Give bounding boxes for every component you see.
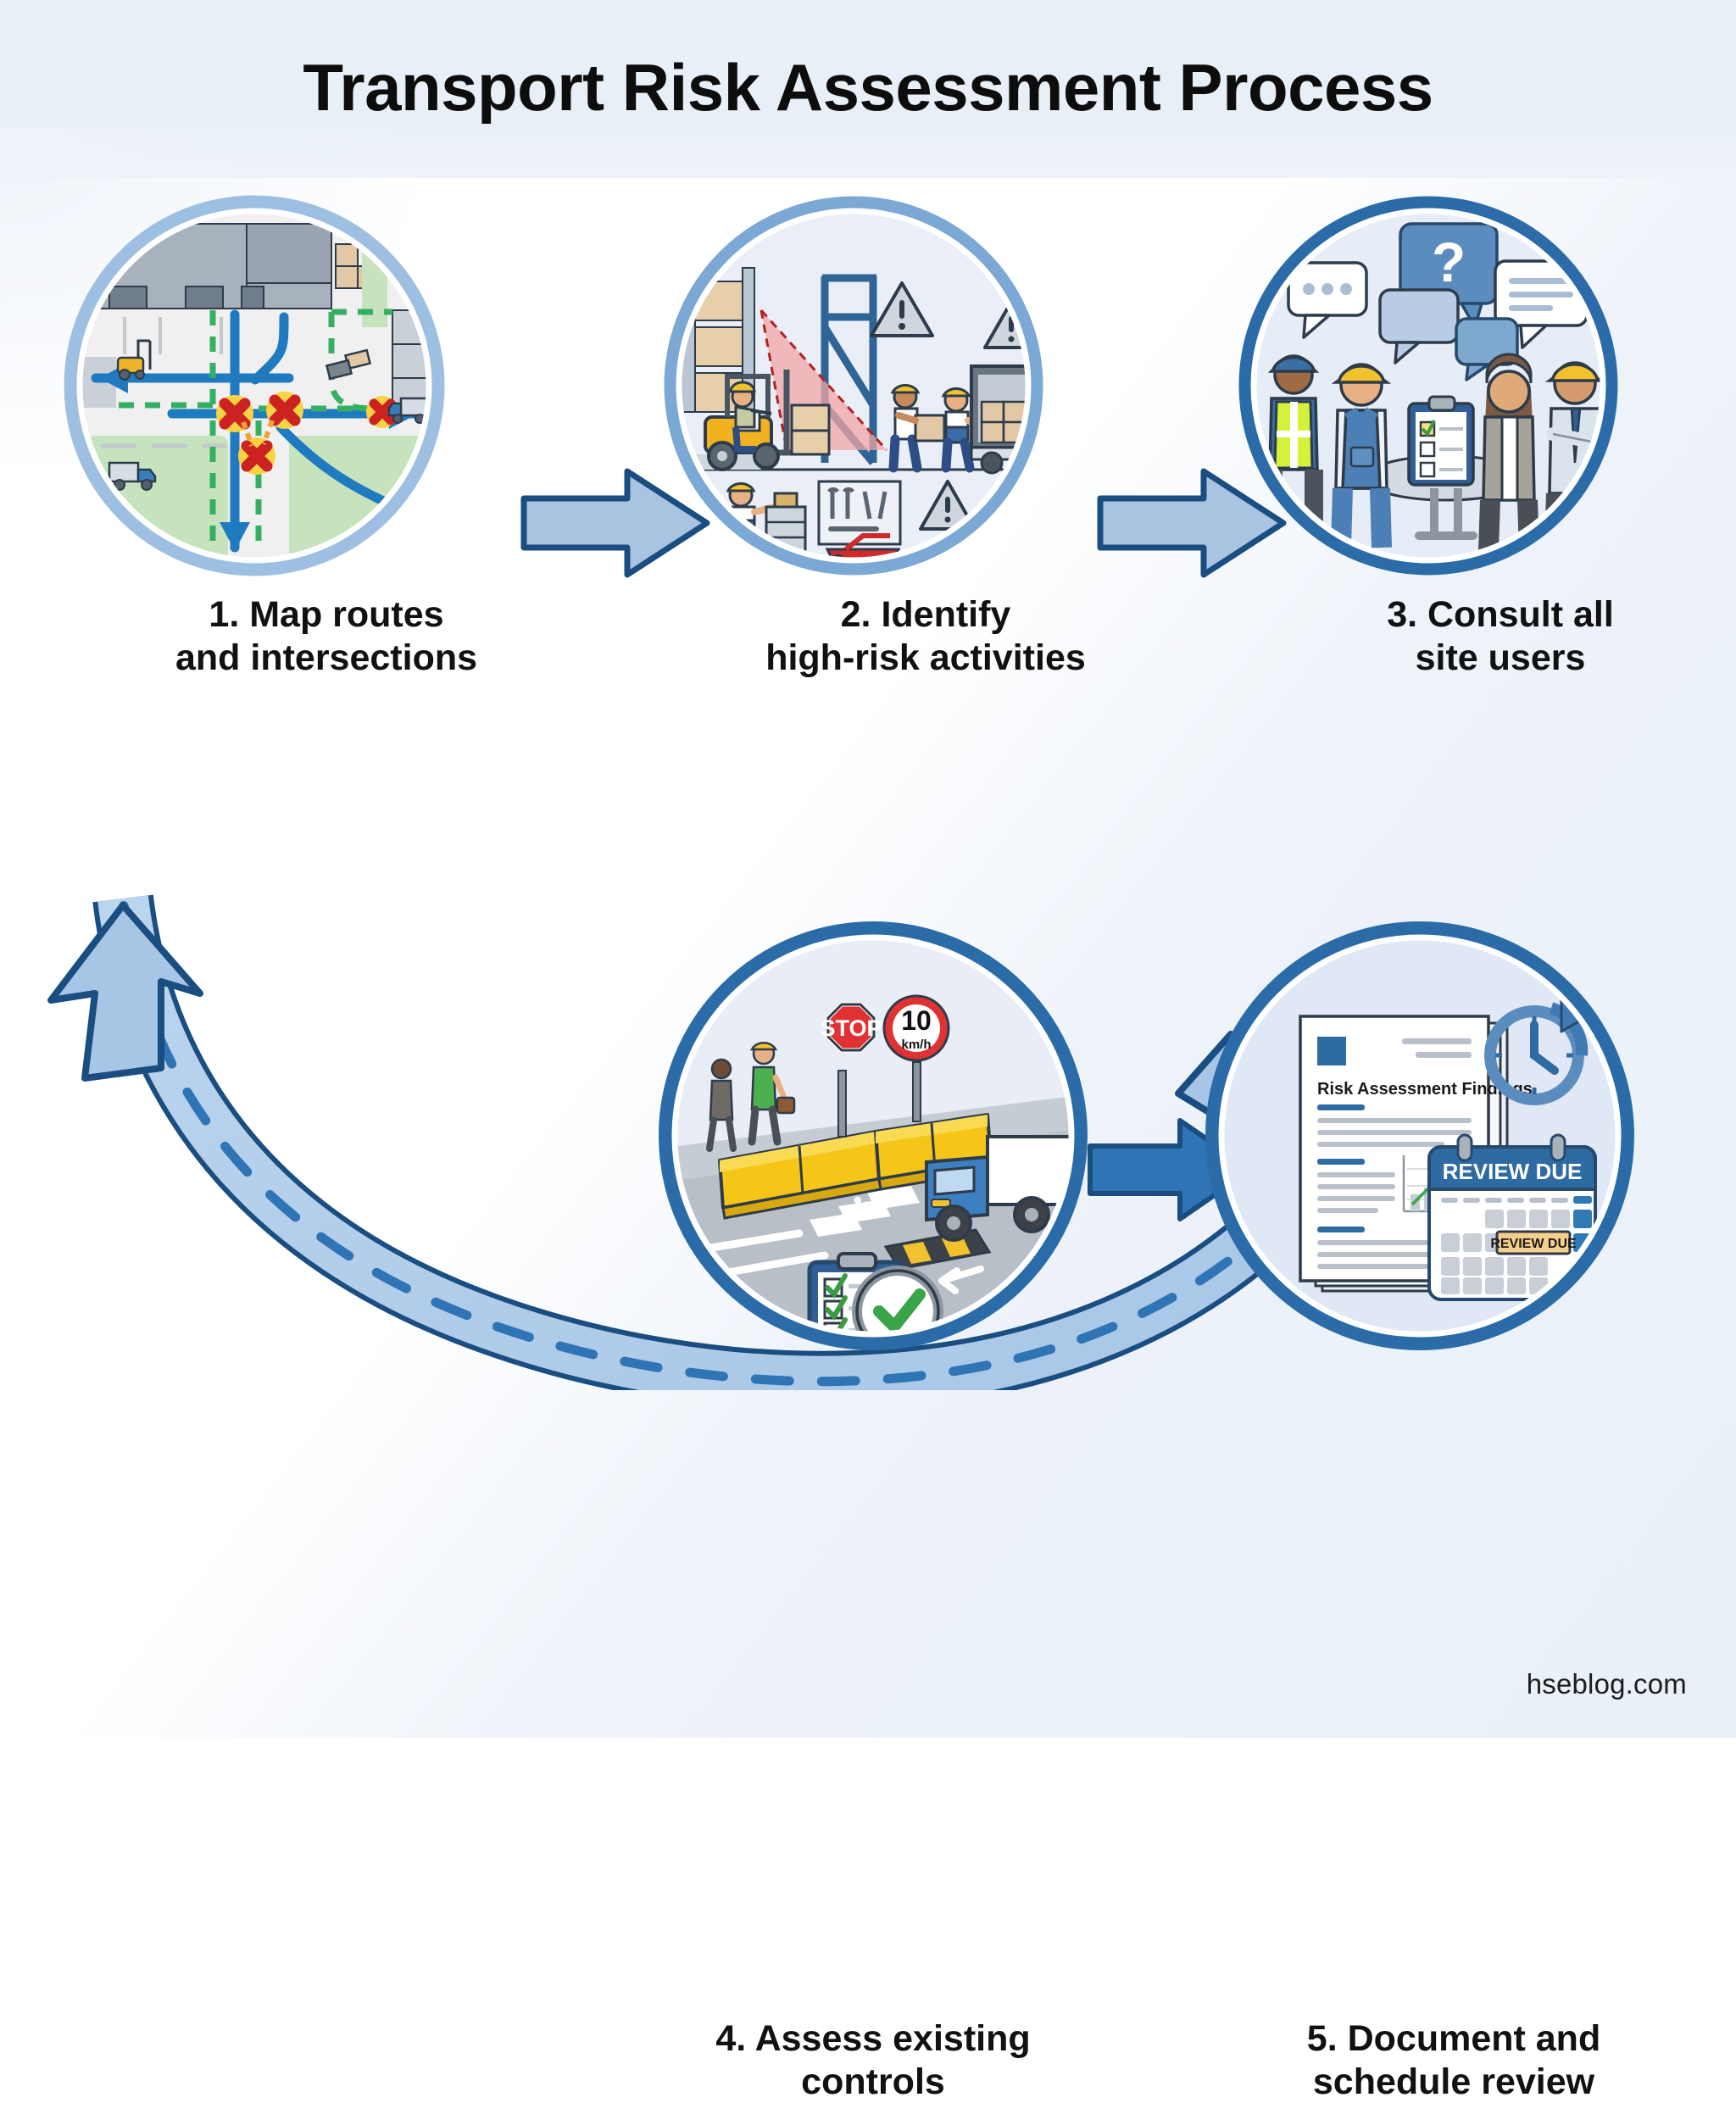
calendar-badge-label: REVIEW DUE <box>1490 1237 1577 1251</box>
clipboard-icon <box>1409 397 1473 485</box>
consultation-illustration: ? <box>1251 209 1605 563</box>
conflict-point-icon <box>216 395 253 432</box>
stop-sign-label: STOP <box>820 1015 882 1041</box>
existing-controls-illustration: STOP 10 km/h <box>672 935 1074 1337</box>
speed-limit-value: 10 <box>901 1005 932 1036</box>
supervisor-icon <box>1550 363 1602 549</box>
step-3-scene: ? <box>1251 209 1605 563</box>
footer-watermark: hseblog.com <box>1527 1668 1687 1700</box>
step-node-3[interactable]: ? <box>1238 195 1736 720</box>
calendar-icon: REVIEW DUE <box>1429 1135 1595 1299</box>
calendar-header-label: REVIEW DUE <box>1443 1159 1583 1184</box>
hi-vis-worker-icon <box>1270 356 1317 544</box>
step-node-5[interactable]: Risk Assessment Findings <box>1204 920 1729 1445</box>
step-4-circle: STOP 10 km/h <box>657 920 1089 1352</box>
step-2-scene <box>676 209 1031 563</box>
step-5-scene: Risk Assessment Findings <box>1219 935 1621 1337</box>
step-node-2[interactable]: 2. Identify high-risk activities <box>663 195 1188 720</box>
step-node-4[interactable]: STOP 10 km/h <box>657 920 1182 1445</box>
step-3-label: 3. Consult all site users <box>1229 593 1736 679</box>
step-node-1[interactable]: 1. Map routes and intersections <box>64 195 589 720</box>
high-risk-activity-illustration <box>676 209 1031 563</box>
step-4-scene: STOP 10 km/h <box>672 935 1074 1337</box>
step-5-label: 5. Document and schedule review <box>1191 2017 1717 2103</box>
step-2-circle <box>663 195 1044 576</box>
step-4-label: 4. Assess existing controls <box>610 2017 1136 2103</box>
documentation-illustration: Risk Assessment Findings <box>1219 935 1621 1337</box>
step-5-circle: Risk Assessment Findings <box>1204 920 1636 1352</box>
step-2-label: 2. Identify high-risk activities <box>646 593 1205 679</box>
site-map-illustration <box>77 209 431 563</box>
step-1-scene <box>77 209 431 563</box>
question-mark-glyph: ? <box>1432 231 1466 293</box>
step-3-circle: ? <box>1238 195 1619 576</box>
delivery-truck-icon <box>971 366 1031 473</box>
speed-limit-unit: km/h <box>901 1038 931 1052</box>
step-1-circle <box>64 195 445 576</box>
step-1-label: 1. Map routes and intersections <box>55 593 598 679</box>
page-title: Transport Risk Assessment Process <box>0 49 1736 126</box>
